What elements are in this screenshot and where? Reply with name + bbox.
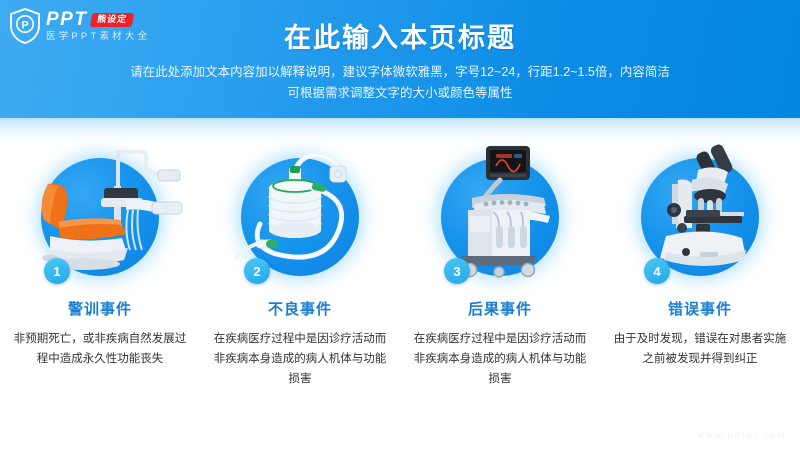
- page-subtitle: 请在此处添加文本内容加以解释说明，建议字体微软雅黑，字号12~24，行距1.2~…: [0, 62, 800, 103]
- illustration-1: 1: [0, 140, 200, 290]
- column-body: 在疾病医疗过程中是因诊疗活动而非疾病本身造成的病人机体与功能损害: [211, 330, 389, 389]
- column-body: 由于及时发现，错误在对患者实施之前被发现并得到纠正: [611, 330, 789, 370]
- illustration-2: 2: [200, 140, 400, 290]
- column-title: 警训事件: [68, 302, 132, 317]
- ultrasound-machine-icon: [400, 140, 600, 290]
- illustration-4: 4: [600, 140, 800, 290]
- suction-drainage-device-icon: [200, 140, 400, 290]
- illustration-3: 3: [400, 140, 600, 290]
- step-badge: 1: [44, 258, 70, 284]
- column-title: 后果事件: [468, 302, 532, 317]
- watermark: www.ppter.com: [697, 430, 787, 440]
- microscope-icon: [600, 140, 800, 290]
- step-badge: 3: [444, 258, 470, 284]
- page-title: 在此输入本页标题: [0, 16, 800, 55]
- column-item-3[interactable]: 3 后果事件 在疾病医疗过程中是因诊疗活动而非疾病本身造成的病人机体与功能损害: [400, 140, 600, 430]
- column-body: 非预期死亡，或非疾病自然发展过程中造成永久性功能丧失: [11, 330, 189, 370]
- column-body: 在疾病医疗过程中是因诊疗活动而非疾病本身造成的病人机体与功能损害: [411, 330, 589, 389]
- page-header: P PPT 熊设定 医学PPT素材大全 在此输入本页标题 请在此处添加文本内容加…: [0, 0, 800, 118]
- subtitle-line-1: 请在此处添加文本内容加以解释说明，建议字体微软雅黑，字号12~24，行距1.2~…: [0, 62, 800, 83]
- step-badge: 2: [244, 258, 270, 284]
- column-title: 不良事件: [268, 302, 332, 317]
- dental-chair-icon: [0, 140, 200, 290]
- content-columns: 1 警训事件 非预期死亡，或非疾病自然发展过程中造成永久性功能丧失: [0, 140, 800, 430]
- step-badge: 4: [644, 258, 670, 284]
- column-item-1[interactable]: 1 警训事件 非预期死亡，或非疾病自然发展过程中造成永久性功能丧失: [0, 140, 200, 430]
- column-item-4[interactable]: 4 错误事件 由于及时发现，错误在对患者实施之前被发现并得到纠正: [600, 140, 800, 430]
- column-title: 错误事件: [668, 302, 732, 317]
- subtitle-line-2: 可根据需求调整文字的大小或颜色等属性: [0, 83, 800, 104]
- column-item-2[interactable]: 2 不良事件 在疾病医疗过程中是因诊疗活动而非疾病本身造成的病人机体与功能损害: [200, 140, 400, 430]
